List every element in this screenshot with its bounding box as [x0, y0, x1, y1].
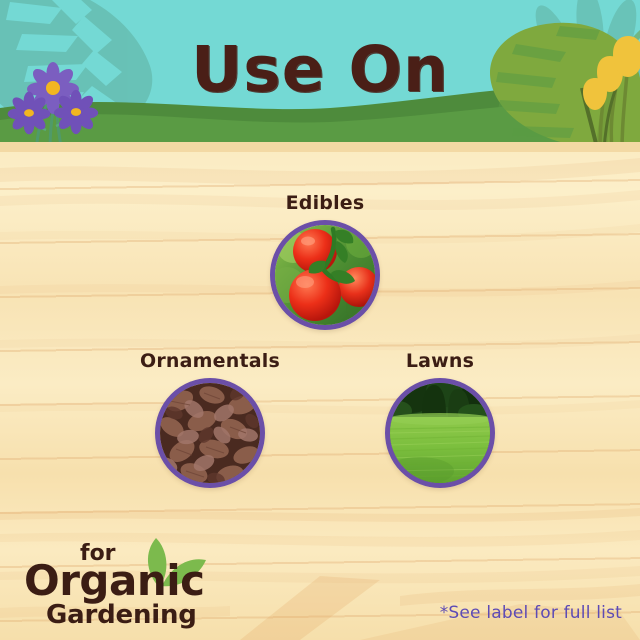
- bronze-ornamental-foliage-photo[interactable]: [155, 378, 265, 488]
- footnote-see-label: *See label for full list: [440, 603, 622, 623]
- use-on-item-edibles[interactable]: Edibles: [245, 192, 405, 330]
- use-on-item-label: Lawns: [360, 350, 520, 372]
- green-lawn-grass-photo[interactable]: [385, 378, 495, 488]
- use-on-item-lawns[interactable]: Lawns: [360, 350, 520, 488]
- use-on-item-label: Edibles: [245, 192, 405, 214]
- header-bottom-strip: [0, 142, 640, 152]
- page-title: Use On: [0, 33, 640, 106]
- tomatoes-on-vine-photo[interactable]: [270, 220, 380, 330]
- logo-line-gardening: Gardening: [46, 602, 197, 628]
- use-on-poster: Use On Edibles: [0, 0, 640, 640]
- use-on-item-ornamentals[interactable]: Ornamentals: [130, 350, 290, 488]
- use-on-item-label: Ornamentals: [130, 350, 290, 372]
- organic-gardening-logo: for Organic Gardening: [22, 536, 237, 628]
- logo-line-organic: Organic: [24, 560, 205, 602]
